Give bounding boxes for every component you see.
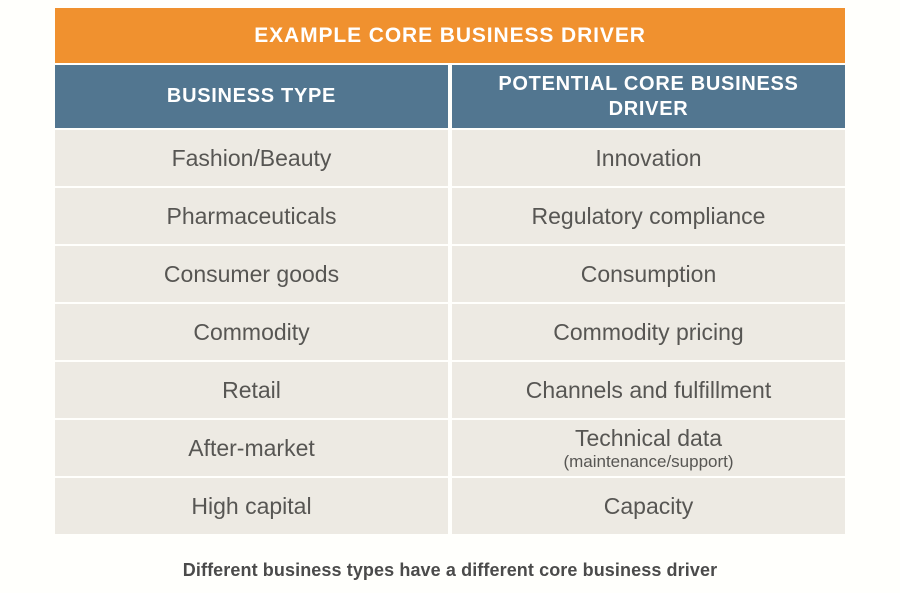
cell-driver-text: Innovation <box>595 145 701 171</box>
table-title-banner: EXAMPLE CORE BUSINESS DRIVER <box>55 8 845 63</box>
cell-business-type: After-market <box>55 420 448 476</box>
column-header-potential-core-business-driver-label: POTENTIAL CORE BUSINESS DRIVER <box>462 72 835 122</box>
cell-driver: Capacity <box>452 478 845 534</box>
cell-driver: Innovation <box>452 130 845 186</box>
cell-driver-text: Regulatory compliance <box>532 203 766 229</box>
cell-business-type-text: Commodity <box>193 319 309 345</box>
cell-driver-text: Consumption <box>581 261 717 287</box>
cell-driver: Consumption <box>452 246 845 302</box>
cell-business-type: Commodity <box>55 304 448 360</box>
cell-driver-text: Capacity <box>604 493 693 519</box>
table-header-row: BUSINESS TYPE POTENTIAL CORE BUSINESS DR… <box>55 65 845 128</box>
table-row: Commodity Commodity pricing <box>55 304 845 360</box>
cell-business-type-text: After-market <box>188 435 315 461</box>
table-row: Fashion/Beauty Innovation <box>55 130 845 186</box>
cell-business-type: Consumer goods <box>55 246 448 302</box>
figure-caption: Different business types have a differen… <box>0 560 900 581</box>
cell-business-type: Retail <box>55 362 448 418</box>
table-row: High capital Capacity <box>55 478 845 534</box>
cell-business-type-text: Consumer goods <box>164 261 339 287</box>
table-title: EXAMPLE CORE BUSINESS DRIVER <box>254 24 646 47</box>
cell-driver: Channels and fulfillment <box>452 362 845 418</box>
business-driver-table: EXAMPLE CORE BUSINESS DRIVER BUSINESS TY… <box>55 8 845 536</box>
table-row: After-market Technical data (maintenance… <box>55 420 845 476</box>
cell-business-type-text: Retail <box>222 377 281 403</box>
cell-driver: Technical data (maintenance/support) <box>452 420 845 476</box>
cell-driver-text: Commodity pricing <box>553 319 743 345</box>
cell-driver: Regulatory compliance <box>452 188 845 244</box>
cell-business-type-text: Fashion/Beauty <box>172 145 332 171</box>
table-body: Fashion/Beauty Innovation Pharmaceutical… <box>55 130 845 534</box>
cell-business-type-text: Pharmaceuticals <box>166 203 336 229</box>
table-row: Retail Channels and fulfillment <box>55 362 845 418</box>
column-header-business-type: BUSINESS TYPE <box>55 65 448 128</box>
cell-driver-text: Channels and fulfillment <box>526 377 771 403</box>
cell-driver-text: Technical data <box>575 425 722 451</box>
cell-business-type: High capital <box>55 478 448 534</box>
column-header-business-type-label: BUSINESS TYPE <box>167 84 336 109</box>
page-root: EXAMPLE CORE BUSINESS DRIVER BUSINESS TY… <box>0 0 900 593</box>
cell-business-type: Pharmaceuticals <box>55 188 448 244</box>
cell-business-type: Fashion/Beauty <box>55 130 448 186</box>
column-header-potential-core-business-driver: POTENTIAL CORE BUSINESS DRIVER <box>452 65 845 128</box>
cell-business-type-text: High capital <box>191 493 311 519</box>
cell-driver: Commodity pricing <box>452 304 845 360</box>
cell-driver-subtext: (maintenance/support) <box>563 452 733 472</box>
table-row: Consumer goods Consumption <box>55 246 845 302</box>
table-row: Pharmaceuticals Regulatory compliance <box>55 188 845 244</box>
